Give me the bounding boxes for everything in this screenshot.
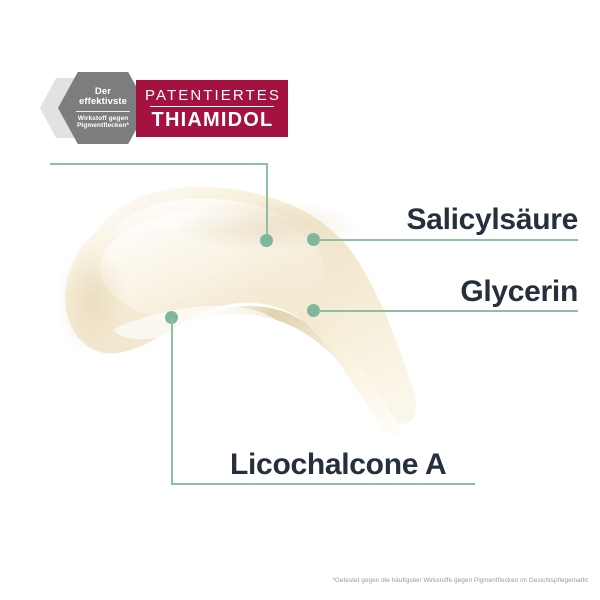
cream-body [65, 187, 416, 424]
ingredient-label-glycerin: Glycerin [460, 275, 578, 309]
cream-tail [298, 310, 400, 437]
callout-dot-thiamidol [260, 234, 273, 247]
cream-highlight-top [104, 199, 342, 262]
cream-gloss-curl [112, 306, 276, 340]
banner-line-patentiertes: PATENTIERTES [143, 88, 281, 103]
connector-badge-horizontal [50, 163, 268, 165]
cream-inner-highlight [100, 210, 324, 326]
thiamidol-badge: Der effektivste Wirkstoff gegen Pigmentf… [40, 72, 290, 144]
connector-badge-vertical [266, 163, 268, 241]
product-ingredient-infographic: Der effektivste Wirkstoff gegen Pigmentf… [0, 0, 600, 600]
connector-salicylsaeure [318, 239, 578, 241]
ingredient-label-salicylsaeure: Salicylsäure [406, 203, 578, 237]
banner-line-thiamidol: THIAMIDOL [151, 110, 274, 130]
cream-edge-shadow-left [56, 244, 128, 356]
badge-divider [76, 111, 130, 112]
footnote-disclaimer: *Getestet gegen die häufigsten Wirkstoff… [0, 577, 588, 584]
badge-subclaim-line-1: Wirkstoff gegen [78, 115, 129, 122]
patented-thiamidol-banner: PATENTIERTES THIAMIDOL [136, 80, 288, 137]
ingredient-label-licochalcone-a: Licochalcone A [230, 448, 446, 482]
connector-glycerin [318, 310, 578, 312]
connector-licochalcone-vertical [171, 318, 173, 484]
banner-rule [150, 106, 274, 107]
badge-claim-line-2: effektivste [79, 97, 127, 107]
connector-licochalcone-horizontal [171, 483, 475, 485]
cream-ridge [188, 306, 388, 416]
badge-subclaim-line-2: Pigmentflecken* [77, 122, 129, 129]
